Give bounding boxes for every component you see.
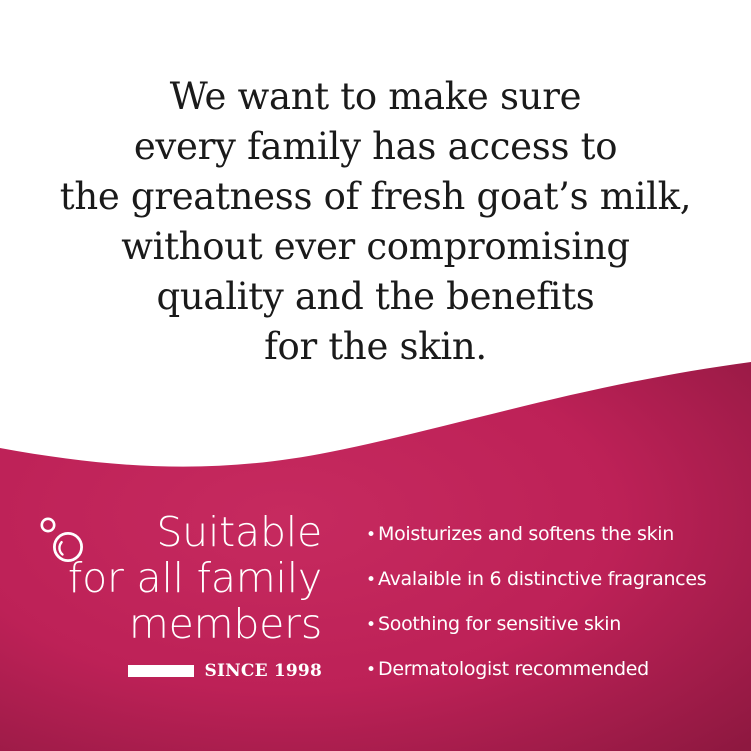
list-item-label: Dermatologist recommended	[378, 660, 649, 679]
list-item: • Avalaible in 6 distinctive fragrances	[366, 570, 746, 615]
band-heading: Suitable for all family members	[0, 509, 322, 647]
statement-line: We want to make sure	[0, 72, 751, 122]
benefits-list: • Moisturizes and softens the skin • Ava…	[366, 525, 746, 705]
bullet-icon: •	[366, 527, 378, 544]
statement-text: We want to make sure every family has ac…	[0, 72, 751, 372]
band-heading-line: Suitable	[0, 509, 322, 555]
list-item: • Dermatologist recommended	[366, 660, 746, 705]
since-row: SINCE 1998	[0, 661, 322, 681]
statement-line: for the skin.	[0, 322, 751, 372]
statement-line: the greatness of fresh goat’s milk,	[0, 172, 751, 222]
since-label: SINCE 1998	[205, 661, 323, 681]
list-item-label: Moisturizes and softens the skin	[378, 525, 674, 544]
bullet-icon: •	[366, 662, 378, 679]
list-item-label: Avalaible in 6 distinctive fragrances	[378, 570, 706, 589]
statement-line: without ever compromising	[0, 222, 751, 272]
bullet-icon: •	[366, 572, 378, 589]
band-heading-line: members	[0, 601, 322, 647]
promo-banner: We want to make sure every family has ac…	[0, 0, 751, 751]
statement-line: quality and the benefits	[0, 272, 751, 322]
bullet-icon: •	[366, 617, 378, 634]
list-item: • Moisturizes and softens the skin	[366, 525, 746, 570]
list-item-label: Soothing for sensitive skin	[378, 615, 621, 634]
statement-line: every family has access to	[0, 122, 751, 172]
band-heading-line: for all family	[0, 555, 322, 601]
since-rule	[128, 665, 194, 677]
list-item: • Soothing for sensitive skin	[366, 615, 746, 660]
